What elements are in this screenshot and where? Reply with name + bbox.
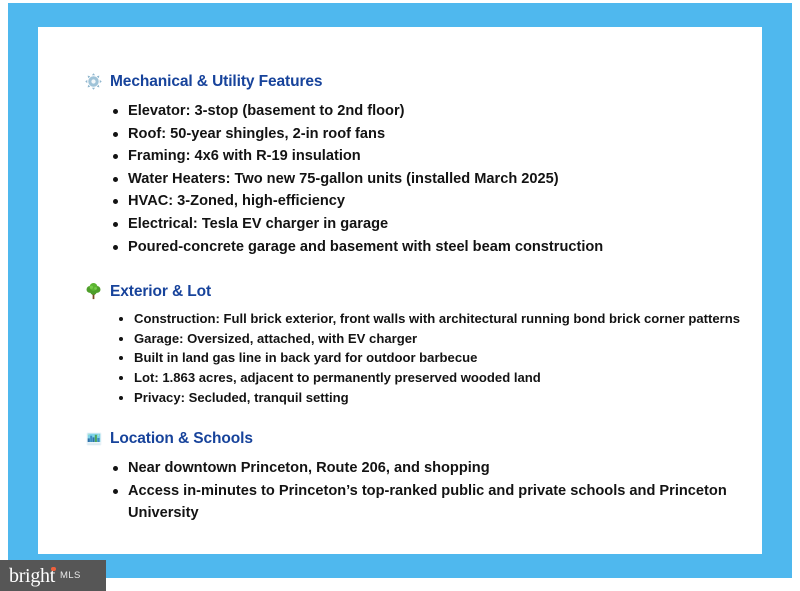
list-item: Lot: 1.863 acres, adjacent to permanentl… — [114, 368, 762, 388]
list-item: Garage: Oversized, attached, with EV cha… — [114, 329, 762, 349]
mechanical-features-list: Elevator: 3-stop (basement to 2nd floor)… — [108, 100, 762, 258]
section-heading-location: Location & Schools — [84, 429, 762, 448]
cityscape-map-icon — [84, 429, 103, 448]
section-exterior-lot: Exterior & Lot Construction: Full brick … — [84, 282, 762, 407]
location-schools-list: Near downtown Princeton, Route 206, and … — [108, 457, 762, 525]
section-heading-exterior: Exterior & Lot — [84, 282, 762, 301]
watermark-suffix: MLS — [60, 570, 81, 582]
list-item: Roof: 50-year shingles, 2-in roof fans — [108, 123, 762, 146]
section-heading-label: Location & Schools — [110, 430, 253, 448]
slide-blue-frame: Mechanical & Utility Features Elevator: … — [8, 3, 792, 578]
bright-mls-watermark: bright MLS — [0, 560, 106, 591]
section-heading-label: Mechanical & Utility Features — [110, 73, 322, 91]
list-item: Privacy: Secluded, tranquil setting — [114, 388, 762, 408]
list-item: Poured-concrete garage and basement with… — [108, 236, 762, 259]
watermark-accent-dot — [51, 567, 56, 572]
section-heading-mechanical: Mechanical & Utility Features — [84, 72, 762, 91]
list-item: Water Heaters: Two new 75-gallon units (… — [108, 168, 762, 191]
watermark-brand: bright — [9, 566, 55, 586]
list-item: Access in-minutes to Princeton’s top-ran… — [108, 480, 762, 525]
section-heading-label: Exterior & Lot — [110, 283, 211, 301]
list-item: Framing: 4x6 with R-19 insulation — [108, 145, 762, 168]
list-item: Elevator: 3-stop (basement to 2nd floor) — [108, 100, 762, 123]
list-item: Built in land gas line in back yard for … — [114, 348, 762, 368]
slide-content-panel: Mechanical & Utility Features Elevator: … — [38, 27, 762, 554]
section-location-schools: Location & Schools Near downtown Princet… — [84, 429, 762, 525]
list-item: HVAC: 3-Zoned, high-efficiency — [108, 190, 762, 213]
list-item: Construction: Full brick exterior, front… — [114, 309, 762, 329]
list-item: Electrical: Tesla EV charger in garage — [108, 213, 762, 236]
exterior-lot-list: Construction: Full brick exterior, front… — [114, 309, 762, 407]
list-item: Near downtown Princeton, Route 206, and … — [108, 457, 762, 480]
watermark-brand-text: bright — [9, 565, 55, 587]
gear-icon — [84, 72, 103, 91]
tree-icon — [84, 282, 103, 301]
property-features-document: Mechanical & Utility Features Elevator: … — [38, 27, 762, 525]
section-mechanical-utility-features: Mechanical & Utility Features Elevator: … — [84, 72, 762, 258]
